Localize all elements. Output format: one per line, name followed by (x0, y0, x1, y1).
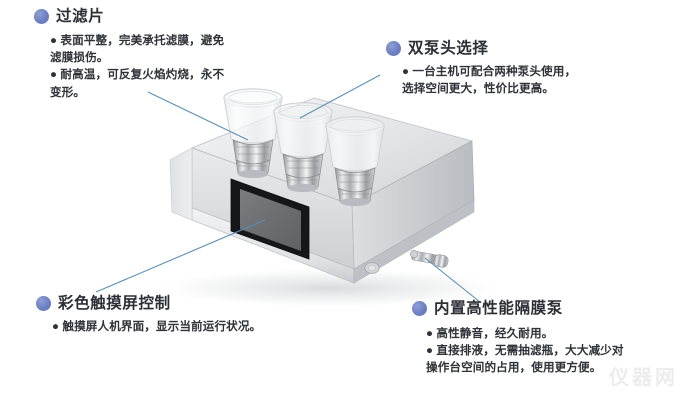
annotation-dual-pump-head: 双泵头选择 ● 一台主机可配合两种泵头使用， 选择空间更大，性价比更高。 (386, 40, 636, 97)
bullet-dot-icon (412, 301, 427, 316)
annotation-dual-pump-head-header: 双泵头选择 (386, 40, 636, 57)
annotation-line: ● 耐高温，可反复火焰灼烧，永不 (50, 66, 264, 83)
annotation-line: 选择空间更大，性价比更高。 (402, 80, 636, 97)
annotation-line: ● 表面平整，完美承托滤膜，避免 (50, 32, 264, 49)
annotation-line: ● 一台主机可配合两种泵头使用， (402, 63, 636, 80)
annotation-diaphragm-pump-header: 内置高性能隔膜泵 (412, 300, 680, 317)
bullet-dot-icon (386, 41, 401, 56)
annotation-color-touchscreen-body: ● 触摸屏人机界面，显示当前运行状况。 (52, 318, 326, 335)
annotation-color-touchscreen-header: 彩色触摸屏控制 (36, 295, 326, 312)
annotation-color-touchscreen: 彩色触摸屏控制 ● 触摸屏人机界面，显示当前运行状况。 (36, 295, 326, 335)
annotation-filter-disc-title: 过滤片 (56, 8, 104, 25)
annotation-filter-disc: 过滤片 ● 表面平整，完美承托滤膜，避免 滤膜损伤。 ● 耐高温，可反复火焰灼烧… (34, 8, 264, 101)
callout-line-touchscreen (96, 220, 265, 292)
watermark: 仪器网 (609, 361, 678, 390)
annotation-filter-disc-header: 过滤片 (34, 8, 264, 25)
annotation-diaphragm-pump-title: 内置高性能隔膜泵 (434, 300, 563, 317)
callout-line-diaphragm-pump (425, 258, 480, 302)
callout-line-pump-head (300, 75, 380, 118)
annotation-line: ● 直接排液，无需抽滤瓶，大大减少对 (426, 342, 680, 359)
annotation-line: ● 高性静音，经久耐用。 (426, 325, 680, 342)
annotation-color-touchscreen-title: 彩色触摸屏控制 (58, 295, 171, 312)
annotation-line: ● 触摸屏人机界面，显示当前运行状况。 (52, 318, 326, 335)
bullet-dot-icon (36, 296, 51, 311)
annotation-dual-pump-head-title: 双泵头选择 (408, 40, 489, 57)
annotation-dual-pump-head-body: ● 一台主机可配合两种泵头使用， 选择空间更大，性价比更高。 (402, 63, 636, 97)
infographic-canvas: 过滤片 ● 表面平整，完美承托滤膜，避免 滤膜损伤。 ● 耐高温，可反复火焰灼烧… (0, 0, 684, 404)
annotation-line: 滤膜损伤。 (50, 49, 264, 66)
bullet-dot-icon (34, 9, 49, 24)
annotation-filter-disc-body: ● 表面平整，完美承托滤膜，避免 滤膜损伤。 ● 耐高温，可反复火焰灼烧，永不 … (50, 32, 264, 101)
annotation-line: 变形。 (50, 84, 264, 101)
